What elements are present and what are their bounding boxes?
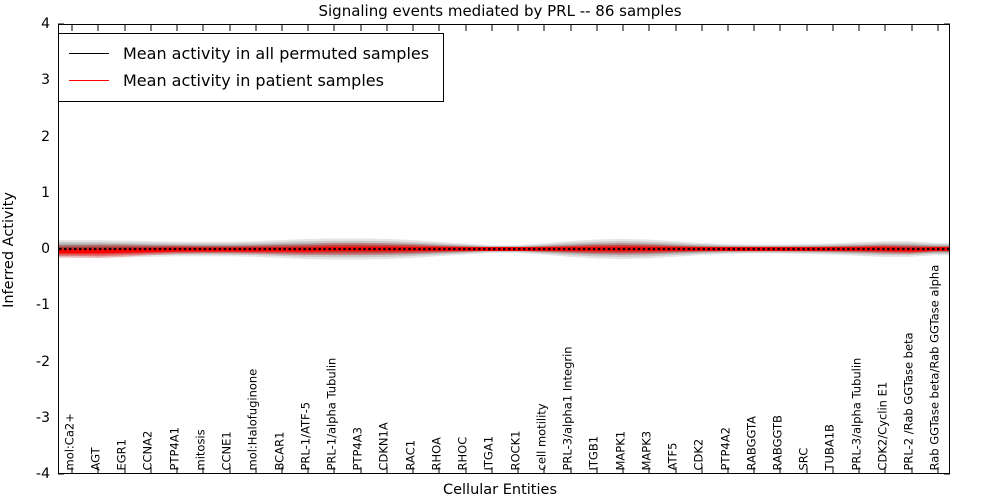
x-tick-mark: [728, 25, 729, 31]
x-tick-label: MAPK1: [615, 430, 627, 470]
x-tick-label: PRL-3/alpha Tubulin: [851, 357, 863, 470]
x-tick-mark: [596, 25, 597, 31]
x-tick-mark: [780, 25, 781, 31]
x-tick-label: cell motility: [536, 403, 548, 470]
x-tick-label: RAC1: [405, 439, 417, 470]
x-tick-label: RABGGTA: [746, 416, 758, 471]
x-tick-label: CCNE1: [222, 431, 234, 470]
x-tick-mark: [491, 25, 492, 31]
x-tick-label: CDKN1A: [379, 422, 391, 470]
x-tick-label: RHOC: [458, 436, 470, 470]
x-tick-mark: [701, 25, 702, 31]
x-tick-mark: [177, 25, 178, 31]
x-tick-label: PRL-1/ATF-5: [300, 401, 312, 470]
legend: Mean activity in all permuted samples Me…: [58, 33, 444, 102]
x-tick-label: RABGGTB: [772, 415, 784, 470]
x-tick-mark: [413, 25, 414, 31]
x-tick-label: CDK2: [694, 438, 706, 470]
x-tick-label: PTP4A2: [720, 427, 732, 470]
x-tick-mark: [518, 25, 519, 31]
y-tick-label: -4: [4, 466, 50, 482]
x-tick-label: CCNA2: [143, 430, 155, 470]
x-tick-label: Rab GGTase beta/Rab GGTase alpha: [930, 264, 942, 470]
x-tick-label: PRL-3/alpha1 Integrin: [563, 346, 575, 470]
x-tick-mark: [282, 25, 283, 31]
legend-entry-patient: Mean activity in patient samples: [69, 67, 429, 94]
y-tick-label: -1: [4, 297, 50, 313]
y-tick-label: -3: [4, 410, 50, 426]
x-tick-label: ROCK1: [510, 430, 522, 470]
x-tick-label: PTP4A1: [169, 427, 181, 470]
y-tick-label: 1: [4, 185, 50, 201]
x-tick-mark: [386, 25, 387, 31]
x-tick-mark: [623, 25, 624, 31]
x-tick-label: mol:Ca2+: [64, 413, 76, 470]
x-tick-mark: [360, 25, 361, 31]
x-tick-label: MAPK3: [641, 430, 653, 470]
legend-line-icon-patient: [69, 80, 109, 81]
x-tick-label: EGR1: [117, 439, 129, 471]
x-tick-label: PRL-2 /Rab GGTase beta: [904, 332, 916, 470]
x-tick-mark: [72, 25, 73, 31]
legend-label-permuted: Mean activity in all permuted samples: [123, 44, 429, 63]
x-tick-mark: [334, 25, 335, 31]
x-tick-label: TUBA1B: [825, 424, 837, 470]
x-tick-mark: [754, 25, 755, 31]
x-tick-label: mol:Halofuginone: [248, 368, 260, 470]
y-tick-label: 3: [4, 72, 50, 88]
x-tick-mark: [885, 25, 886, 31]
x-tick-label: PRL-1/alpha Tubulin: [326, 357, 338, 470]
x-tick-mark: [570, 25, 571, 31]
x-tick-mark: [203, 25, 204, 31]
x-tick-label: PTP4A3: [353, 427, 365, 470]
y-tick-label: 0: [4, 241, 50, 257]
x-tick-mark: [465, 25, 466, 31]
legend-label-patient: Mean activity in patient samples: [123, 71, 384, 90]
x-axis-title: Cellular Entities: [0, 482, 1000, 498]
x-tick-mark: [806, 25, 807, 31]
x-tick-mark: [937, 25, 938, 31]
x-tick-mark: [544, 25, 545, 31]
x-tick-mark: [832, 25, 833, 31]
y-tick-label: -2: [4, 354, 50, 370]
legend-entry-permuted: Mean activity in all permuted samples: [69, 40, 429, 67]
x-tick-mark: [649, 25, 650, 31]
x-tick-label: BCAR1: [274, 431, 286, 470]
x-tick-mark: [98, 25, 99, 31]
x-tick-label: ITGA1: [484, 435, 496, 470]
y-tick-label: 2: [4, 129, 50, 145]
x-tick-mark: [308, 25, 309, 31]
x-tick-mark: [150, 25, 151, 31]
x-tick-label: CDK2/Cyclin E1: [877, 381, 889, 470]
x-tick-mark: [439, 25, 440, 31]
legend-line-icon-permuted: [69, 53, 109, 54]
x-tick-mark: [124, 25, 125, 31]
x-tick-label: mitosis: [195, 429, 207, 470]
x-tick-label: ATF5: [668, 442, 680, 470]
x-tick-mark: [859, 25, 860, 31]
x-tick-mark: [229, 25, 230, 31]
x-tick-label: SRC: [799, 447, 811, 470]
x-tick-label: RHOA: [431, 437, 443, 470]
x-tick-mark: [255, 25, 256, 31]
x-tick-label: AGT: [90, 447, 102, 470]
x-tick-mark: [911, 25, 912, 31]
x-tick-mark: [675, 25, 676, 31]
y-tick-label: 4: [4, 16, 50, 32]
x-tick-label: ITGB1: [589, 435, 601, 470]
chart-title: Signaling events mediated by PRL -- 86 s…: [0, 2, 1000, 20]
